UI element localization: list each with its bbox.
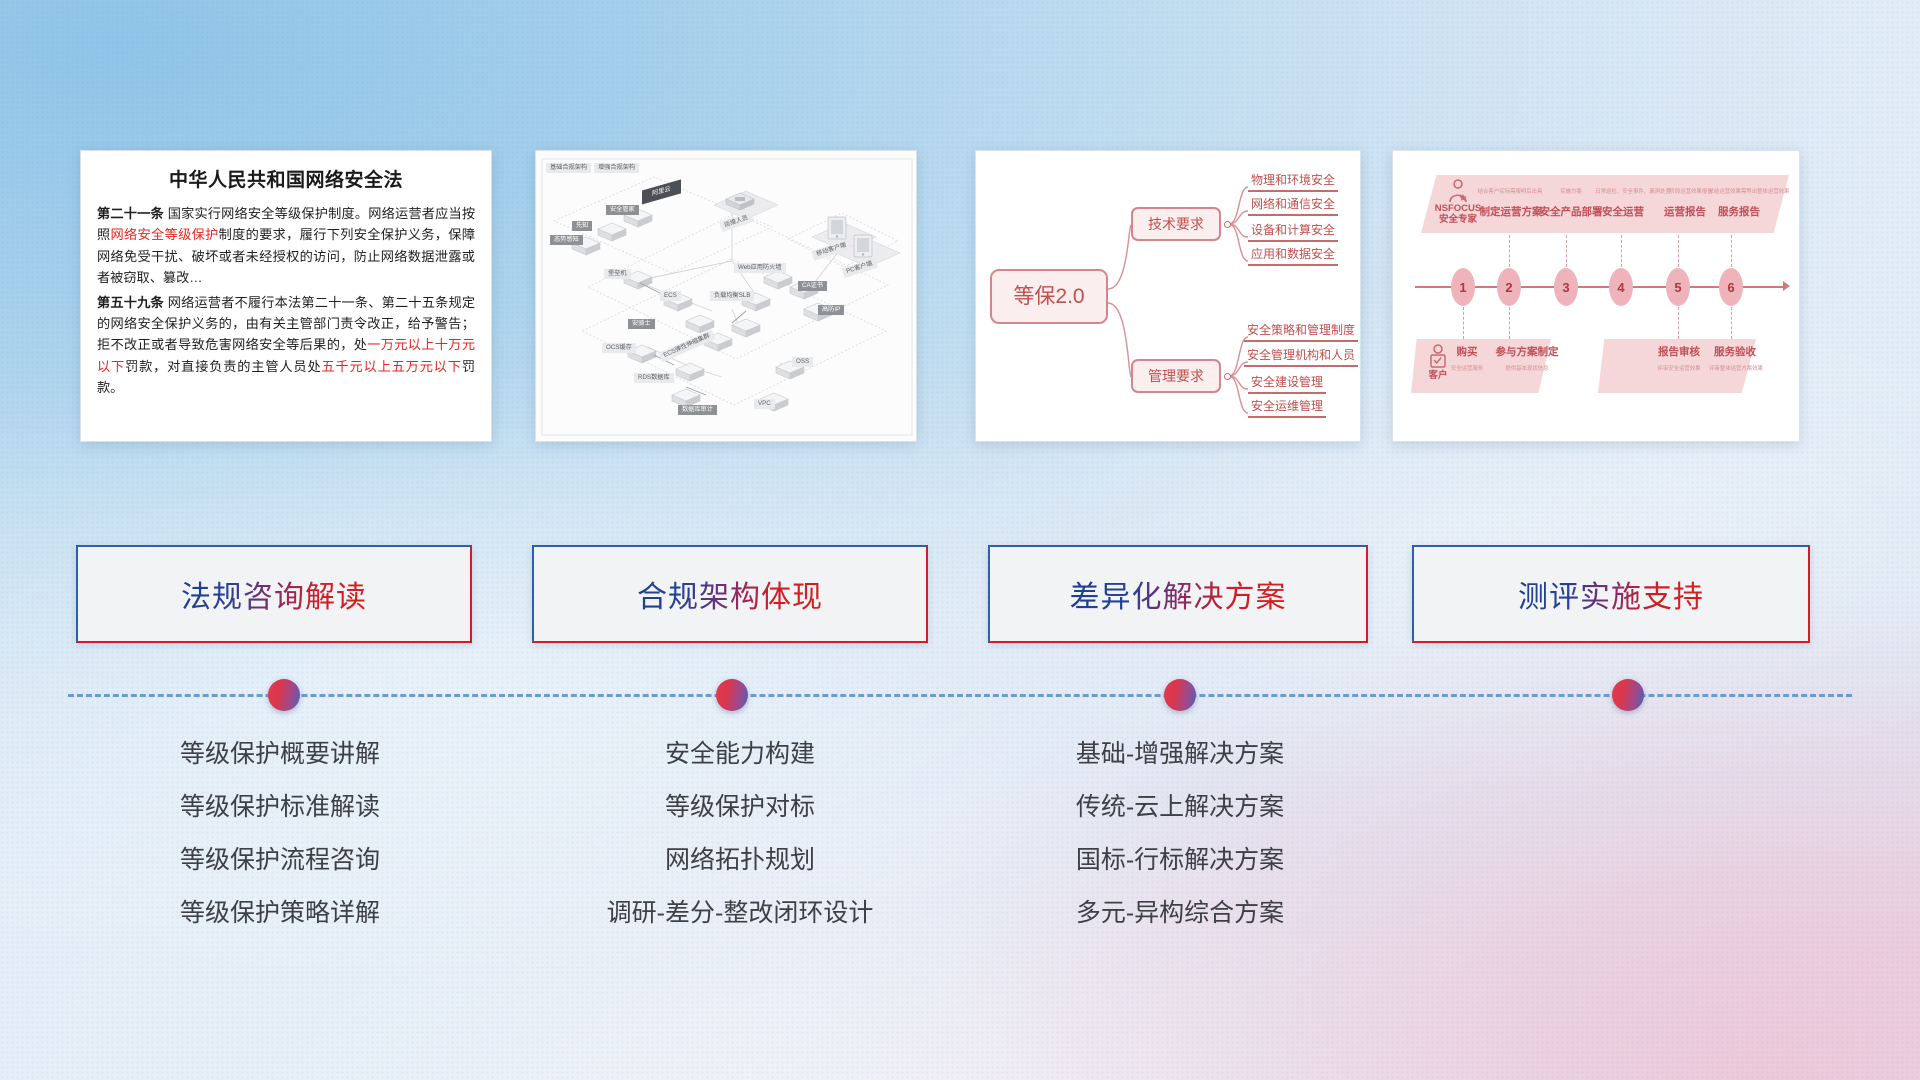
card-cybersecurity-law[interactable]: 中华人民共和国网络安全法 第二十一条 国家实行网络安全等级保护制度。网络运营者应… <box>80 150 492 442</box>
timeline-bottom-title-2: 参与方案制定 <box>1485 347 1569 359</box>
timeline-step-4[interactable]: 4 <box>1609 268 1633 306</box>
card-mindmap-dengbao[interactable]: 等保2.0 技术要求 管理要求 物理和环境安全 网络和通信安全 设备和计算安全 … <box>975 150 1361 442</box>
timeline-rail-dot-1[interactable] <box>268 679 300 711</box>
list-item: 安全能力构建 <box>530 742 950 767</box>
mindmap-leaf-mgmt-3: 安全运维管理 <box>1248 399 1326 418</box>
section-title-label-3: 差异化解决方案 <box>1070 572 1287 616</box>
timeline-tick-b6 <box>1731 307 1732 339</box>
card-compliance-architecture[interactable]: 基础合规架构 增强合规架构 阿里云 安全管家 先知 态势感知 堡垒机 ECS 安… <box>535 150 917 442</box>
article-59-label: 第五十九条 <box>97 295 164 310</box>
arch-node-8: 数据库审计 <box>678 405 717 415</box>
timeline-step-2[interactable]: 2 <box>1497 268 1521 306</box>
timeline-top-title-5: 服务报告 <box>1699 207 1779 219</box>
section-title-button-4[interactable]: 测评实施支持 <box>1412 545 1810 643</box>
list-item: 国标-行标解决方案 <box>960 848 1400 873</box>
arch-node-13: 高防IP <box>818 305 844 315</box>
timeline-rail-dot-4[interactable] <box>1612 679 1644 711</box>
mindmap-canvas: 等保2.0 技术要求 管理要求 物理和环境安全 网络和通信安全 设备和计算安全 … <box>976 151 1360 441</box>
law-title: 中华人民共和国网络安全法 <box>97 165 475 192</box>
arch-node-15: VPC <box>754 399 775 409</box>
article-59-highlight-2: 五千元以上五万元以下 <box>322 359 462 374</box>
bullet-column-1: 等级保护概要讲解 等级保护标准解读 等级保护流程咨询 等级保护策略详解 <box>70 742 490 954</box>
law-text-body: 中华人民共和国网络安全法 第二十一条 国家实行网络安全等级保护制度。网络运营者应… <box>81 151 491 411</box>
section-title-button-2[interactable]: 合规架构体现 <box>532 545 928 643</box>
section-title-label-4: 测评实施支持 <box>1518 572 1704 616</box>
mindmap-leaf-tech-3: 应用和数据安全 <box>1248 247 1338 266</box>
list-item: 多元-异构综合方案 <box>960 901 1400 926</box>
arch-node-0: 安全管家 <box>606 205 639 215</box>
arch-node-2: 态势感知 <box>550 235 583 245</box>
section-title-label-1: 法规咨询解读 <box>181 572 367 616</box>
arch-node-5: 安骑士 <box>628 319 655 329</box>
arch-legend-basic: 基础合规架构 <box>546 163 591 173</box>
mindmap-leaf-mgmt-0: 安全策略和管理制度 <box>1244 323 1358 342</box>
timeline-rail-line <box>68 694 1852 697</box>
mindmap-branch-tech[interactable]: 技术要求 <box>1131 207 1221 241</box>
arch-node-7: RDS数据库 <box>634 373 674 383</box>
slide-stage: 中华人民共和国网络安全法 第二十一条 国家实行网络安全等级保护制度。网络运营者应… <box>0 0 1920 1080</box>
list-item: 传统-云上解决方案 <box>960 795 1400 820</box>
mindmap-knob-mgmt[interactable] <box>1224 373 1231 380</box>
mindmap-leaf-tech-0: 物理和环境安全 <box>1248 173 1338 192</box>
timeline-bottom-title-4: 服务验收 <box>1705 347 1765 359</box>
timeline-step-5[interactable]: 5 <box>1666 268 1690 306</box>
arch-node-9: Web应用防火墙 <box>734 263 786 273</box>
arch-node-12: CA证书 <box>798 281 827 291</box>
arch-node-4: ECS <box>660 291 681 301</box>
mindmap-leaf-tech-2: 设备和计算安全 <box>1248 223 1338 242</box>
timeline-tick-b1 <box>1463 307 1464 339</box>
card-service-timeline[interactable]: NSFOCUS 安全专家 客户 1 2 3 4 5 <box>1392 150 1800 442</box>
timeline-step-3[interactable]: 3 <box>1554 268 1578 306</box>
timeline-tick-b2 <box>1509 307 1510 339</box>
mindmap-branch-mgmt[interactable]: 管理要求 <box>1131 359 1221 393</box>
list-item: 等级保护标准解读 <box>70 795 490 820</box>
mindmap-leaf-mgmt-1: 安全管理机构和人员 <box>1244 348 1358 367</box>
timeline-rail-dot-3[interactable] <box>1164 679 1196 711</box>
section-title-button-3[interactable]: 差异化解决方案 <box>988 545 1368 643</box>
arch-node-10: 负载均衡SLB <box>710 291 754 301</box>
list-item: 等级保护流程咨询 <box>70 848 490 873</box>
timeline-tick-4 <box>1621 235 1622 267</box>
section-title-button-1[interactable]: 法规咨询解读 <box>76 545 472 643</box>
list-item: 基础-增强解决方案 <box>960 742 1400 767</box>
list-item: 网络拓扑规划 <box>530 848 950 873</box>
article-21-highlight: 网络安全等级保护 <box>111 227 219 242</box>
illustration-card-row: 中华人民共和国网络安全法 第二十一条 国家实行网络安全等级保护制度。网络运营者应… <box>0 150 1920 442</box>
timeline-rail <box>68 694 1852 696</box>
architecture-diagram: 基础合规架构 增强合规架构 阿里云 安全管家 先知 态势感知 堡垒机 ECS 安… <box>536 151 916 441</box>
list-item: 等级保护策略详解 <box>70 901 490 926</box>
timeline-tick-6 <box>1731 235 1732 267</box>
mindmap-knob-tech[interactable] <box>1224 221 1231 228</box>
timeline-arrow-head <box>1783 281 1790 291</box>
timeline-tick-2 <box>1509 235 1510 267</box>
timeline-bottom-title-3: 报告审核 <box>1649 347 1709 359</box>
arch-node-3: 堡垒机 <box>604 269 631 279</box>
timeline-bottom-sub-4: 评审整体运营方案效果 <box>1693 367 1779 373</box>
article-21-label: 第二十一条 <box>97 206 164 221</box>
law-article-59: 第五十九条 网络运营者不履行本法第二十一条、第二十五条规定的网络安全保护义务的，… <box>97 292 475 399</box>
section-title-label-2: 合规架构体现 <box>637 572 823 616</box>
list-item: 调研-差分-整改闭环设计 <box>530 901 950 926</box>
article-59-part2: 罚款，对直接负责的主管人员处 <box>125 359 321 374</box>
timeline-step-1[interactable]: 1 <box>1451 268 1475 306</box>
bullet-column-2: 安全能力构建 等级保护对标 网络拓扑规划 调研-差分-整改闭环设计 <box>530 742 950 954</box>
bullet-column-3: 基础-增强解决方案 传统-云上解决方案 国标-行标解决方案 多元-异构综合方案 <box>960 742 1400 954</box>
mindmap-leaf-tech-1: 网络和通信安全 <box>1248 197 1338 216</box>
timeline-tick-b5 <box>1678 307 1679 339</box>
timeline-rail-dot-2[interactable] <box>716 679 748 711</box>
timeline-canvas: NSFOCUS 安全专家 客户 1 2 3 4 5 <box>1393 151 1799 441</box>
arch-node-14: OSS <box>792 357 813 367</box>
section-title-row: 法规咨询解读 合规架构体现 差异化解决方案 测评实施支持 <box>0 545 1920 645</box>
list-item: 等级保护概要讲解 <box>70 742 490 767</box>
arch-legend-enhanced: 增强合规架构 <box>594 163 639 173</box>
timeline-tick-3 <box>1566 235 1567 267</box>
law-article-21: 第二十一条 国家实行网络安全等级保护制度。网络运营者应当按照网络安全等级保护制度… <box>97 203 475 289</box>
timeline-tick-5 <box>1678 235 1679 267</box>
timeline-bottom-sub-2: 提供基本现状信息 <box>1485 367 1569 373</box>
list-item: 等级保护对标 <box>530 795 950 820</box>
timeline-top-sub-5: 总结运营效果需等出整体运营效果 <box>1689 190 1800 196</box>
arch-node-1: 先知 <box>572 221 592 231</box>
persona-expert: NSFOCUS 安全专家 <box>1427 179 1489 226</box>
arch-node-6: OCS缓存 <box>602 343 636 353</box>
mindmap-root-node[interactable]: 等保2.0 <box>990 269 1108 324</box>
mindmap-leaf-mgmt-2: 安全建设管理 <box>1248 375 1326 394</box>
timeline-step-6[interactable]: 6 <box>1719 268 1743 306</box>
